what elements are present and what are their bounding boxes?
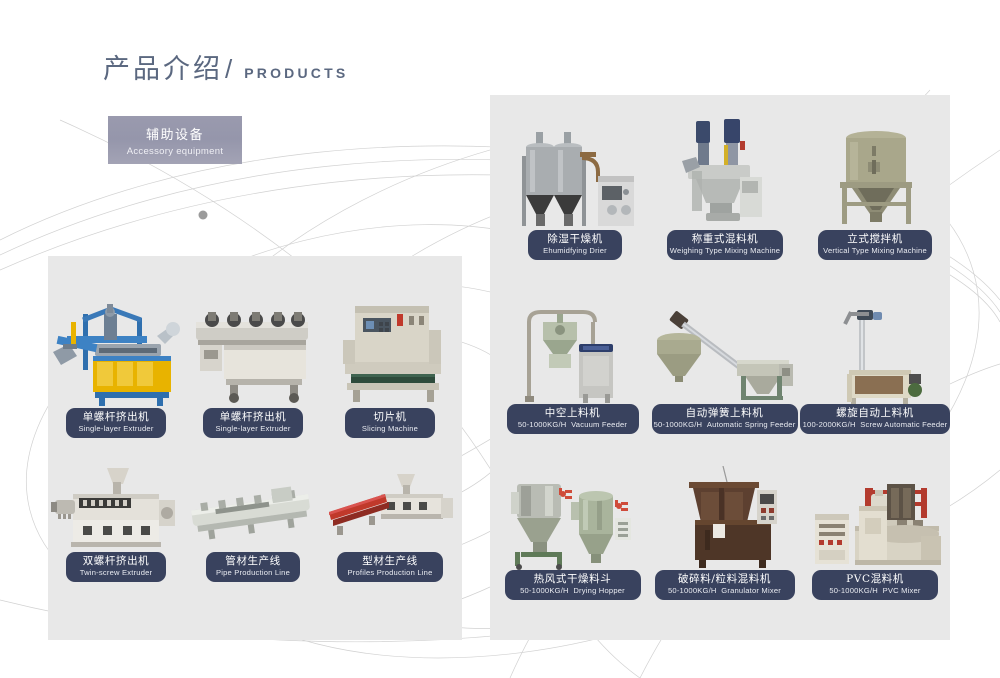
label-en: Slicing Machine xyxy=(362,424,418,434)
label-cn: 螺旋自动上料机 xyxy=(836,407,914,419)
page-title: 产品介绍 / PRODUCTS xyxy=(103,47,348,86)
label-cn: 除湿干燥机 xyxy=(547,233,603,245)
weighing-mixer-image xyxy=(655,115,795,230)
product-label-vacuum-feeder[interactable]: 中空上料机 50-1000KG/H Vacuum Feeder xyxy=(507,404,639,434)
accessory-tab-label-cn: 辅助设备 xyxy=(146,124,204,143)
single-layer-extruder-image xyxy=(48,300,184,408)
product-card-drying-hopper[interactable]: 热风式干燥料斗 50-1000KG/H Drying Hopper xyxy=(500,466,645,602)
granulator-mixer-image xyxy=(652,466,797,570)
label-en: Single-layer Extruder xyxy=(215,424,290,434)
pvc-mixer-unit-image xyxy=(800,466,950,570)
label-en: Twin-screw Extruder xyxy=(80,568,153,578)
product-card-profiles-production-line[interactable]: 型材生产线 Profiles Production Line xyxy=(322,456,458,584)
pipe-production-line-image xyxy=(185,456,321,552)
product-card-pipe-production-line[interactable]: 管材生产线 Pipe Production Line xyxy=(185,456,321,584)
product-label-slicing-machine[interactable]: 切片机 Slicing Machine xyxy=(345,408,435,438)
product-label-drying-hopper[interactable]: 热风式干燥料斗 50-1000KG/H Drying Hopper xyxy=(505,570,641,600)
accessory-equipment-tab[interactable]: 辅助设备 Accessory equipment xyxy=(108,116,242,164)
label-en: 100-2000KG/H Screw Automatic Feeder xyxy=(803,420,948,430)
product-card-screw-feeder[interactable]: 螺旋自动上料机 100-2000KG/H Screw Automatic Fee… xyxy=(800,300,950,436)
label-cn: 热风式干燥料斗 xyxy=(534,573,612,585)
product-label-screw-feeder[interactable]: 螺旋自动上料机 100-2000KG/H Screw Automatic Fee… xyxy=(800,404,950,434)
label-en: Vertical Type Mixing Machine xyxy=(823,246,927,256)
product-label-twin-screw-extruder[interactable]: 双螺杆挤出机 Twin-screw Extruder xyxy=(66,552,166,582)
profiles-production-line-image xyxy=(322,456,458,552)
product-card-pvc-mixer[interactable]: PVC混料机 50-1000KG/H PVC Mixer xyxy=(800,466,950,602)
label-en: 50-1000KG/H Automatic Spring Feeder xyxy=(654,420,796,430)
vacuum-feeder-image xyxy=(500,300,645,404)
product-card-weighing-mixer[interactable]: 称重式混料机 Weighing Type Mixing Machine xyxy=(655,115,795,262)
product-card-twin-screw-extruder[interactable]: 双螺杆挤出机 Twin-screw Extruder xyxy=(48,456,184,584)
label-cn: 双螺杆挤出机 xyxy=(83,555,150,567)
label-cn: 称重式混料机 xyxy=(692,233,759,245)
product-card-single-layer-extruder-1[interactable]: 单螺杆挤出机 Single-layer Extruder xyxy=(48,300,184,440)
product-label-single-layer-extruder-2[interactable]: 单螺杆挤出机 Single-layer Extruder xyxy=(203,408,303,438)
product-card-granulator-mixer[interactable]: 破碎料/粒料混料机 50-1000KG/H Granulator Mixer xyxy=(652,466,797,602)
slicing-machine-image xyxy=(322,300,458,408)
spring-feeder-image xyxy=(652,300,797,404)
product-label-single-layer-extruder-1[interactable]: 单螺杆挤出机 Single-layer Extruder xyxy=(66,408,166,438)
label-cn: 单螺杆挤出机 xyxy=(83,411,150,423)
label-en: Ehumidfying Drier xyxy=(543,246,607,256)
page-title-slash: / xyxy=(225,54,232,85)
label-en: Single-layer Extruder xyxy=(78,424,153,434)
product-label-vertical-mixer[interactable]: 立式搅拌机 Vertical Type Mixing Machine xyxy=(818,230,932,260)
label-en: 50-1000KG/H Granulator Mixer xyxy=(668,586,781,596)
product-card-spring-feeder[interactable]: 自动弹簧上料机 50-1000KG/H Automatic Spring Fee… xyxy=(652,300,797,436)
label-cn: 型材生产线 xyxy=(362,555,418,567)
label-en: 50-1000KG/H Drying Hopper xyxy=(520,586,625,596)
vertical-silo-mixer-image xyxy=(805,122,945,230)
product-label-spring-feeder[interactable]: 自动弹簧上料机 50-1000KG/H Automatic Spring Fee… xyxy=(652,404,798,434)
label-en: Profiles Production Line xyxy=(347,568,432,578)
twin-screw-extruder-image xyxy=(48,456,184,552)
product-card-vertical-mixer[interactable]: 立式搅拌机 Vertical Type Mixing Machine xyxy=(805,122,945,262)
label-cn: PVC混料机 xyxy=(846,573,904,585)
product-label-dehumidifying-drier[interactable]: 除湿干燥机 Ehumidfying Drier xyxy=(528,230,622,260)
page-title-en: PRODUCTS xyxy=(244,65,348,81)
product-card-slicing-machine[interactable]: 切片机 Slicing Machine xyxy=(322,300,458,440)
product-label-weighing-mixer[interactable]: 称重式混料机 Weighing Type Mixing Machine xyxy=(667,230,783,260)
product-card-dehumidifying-drier[interactable]: 除湿干燥机 Ehumidfying Drier xyxy=(505,128,645,262)
label-en: Pipe Production Line xyxy=(216,568,290,578)
roller-conveyor-image xyxy=(185,300,321,408)
label-cn: 自动弹簧上料机 xyxy=(686,407,764,419)
product-label-pvc-mixer[interactable]: PVC混料机 50-1000KG/H PVC Mixer xyxy=(812,570,938,600)
label-cn: 中空上料机 xyxy=(545,407,601,419)
product-label-granulator-mixer[interactable]: 破碎料/粒料混料机 50-1000KG/H Granulator Mixer xyxy=(655,570,795,600)
label-cn: 切片机 xyxy=(373,411,406,423)
label-en: 50-1000KG/H PVC Mixer xyxy=(829,586,920,596)
product-card-single-layer-extruder-2[interactable]: 单螺杆挤出机 Single-layer Extruder xyxy=(185,300,321,440)
twin-silo-drier-image xyxy=(505,128,645,230)
label-cn: 立式搅拌机 xyxy=(847,233,903,245)
product-label-pipe-production-line[interactable]: 管材生产线 Pipe Production Line xyxy=(206,552,300,582)
drying-hoppers-image xyxy=(500,466,645,570)
accessory-tab-label-en: Accessory equipment xyxy=(127,146,224,157)
label-en: Weighing Type Mixing Machine xyxy=(670,246,780,256)
label-cn: 管材生产线 xyxy=(225,555,281,567)
label-en: 50-1000KG/H Vacuum Feeder xyxy=(518,420,627,430)
label-cn: 单螺杆挤出机 xyxy=(220,411,287,423)
product-label-profiles-production-line[interactable]: 型材生产线 Profiles Production Line xyxy=(337,552,443,582)
label-cn: 破碎料/粒料混料机 xyxy=(678,573,771,585)
screw-feeder-image xyxy=(800,300,950,404)
product-card-vacuum-feeder[interactable]: 中空上料机 50-1000KG/H Vacuum Feeder xyxy=(500,300,645,436)
page-title-cn: 产品介绍 xyxy=(103,47,223,86)
